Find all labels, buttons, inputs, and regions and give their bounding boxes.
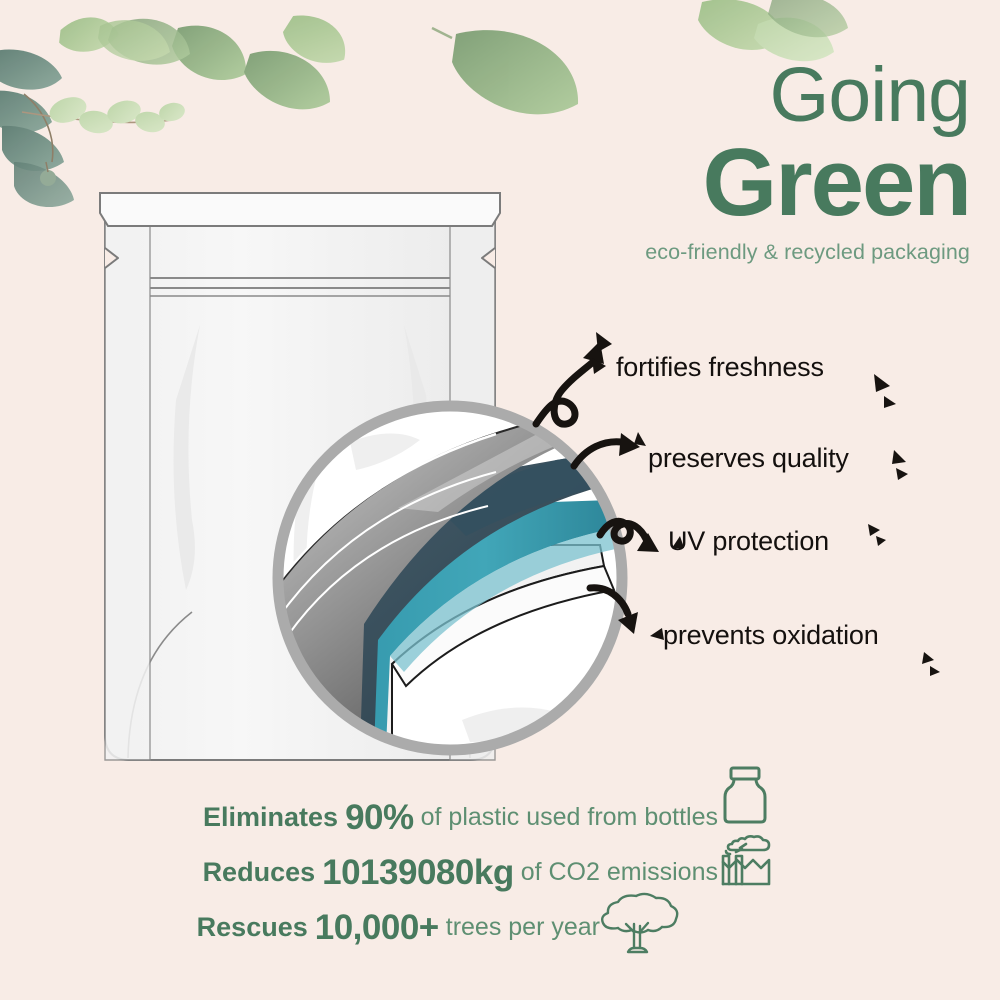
stat-tail: trees per year [446,913,600,942]
stat-value: 90% [345,798,414,838]
tree-icon [588,892,688,956]
looped-arrow-icon [600,521,659,552]
page-title-line2: Green [570,135,970,231]
stat-value: 10,000+ [315,908,439,948]
page-title-line1: Going [570,58,970,133]
feature-label-uv-protection: UV protection [668,526,829,557]
factory-icon [716,830,776,890]
stat-lead: Reduces [203,857,316,888]
jar-icon [718,764,772,826]
title-block: Going Green eco-friendly & recycled pack… [570,58,970,265]
feature-label-prevents-oxidation: prevents oxidation [663,620,879,651]
feature-label-preserves-quality: preserves quality [648,443,849,474]
stat-lead: Eliminates [203,802,338,833]
stat-lead: Rescues [197,912,308,943]
curved-arrow-icon [590,588,638,634]
page-subtitle: eco-friendly & recycled packaging [570,240,970,265]
infographic-canvas: Going Green eco-friendly & recycled pack… [0,0,1000,1000]
stat-row: Eliminates 90% of plastic used from bott… [0,790,730,845]
feature-label-fortifies-freshness: fortifies freshness [616,352,824,383]
stat-tail: of plastic used from bottles [421,803,718,832]
curved-arrow-icon [574,433,640,466]
stat-value: 10139080kg [322,853,514,893]
stat-tail: of CO2 emissions [521,858,718,887]
curly-arrow-icon [536,341,604,424]
